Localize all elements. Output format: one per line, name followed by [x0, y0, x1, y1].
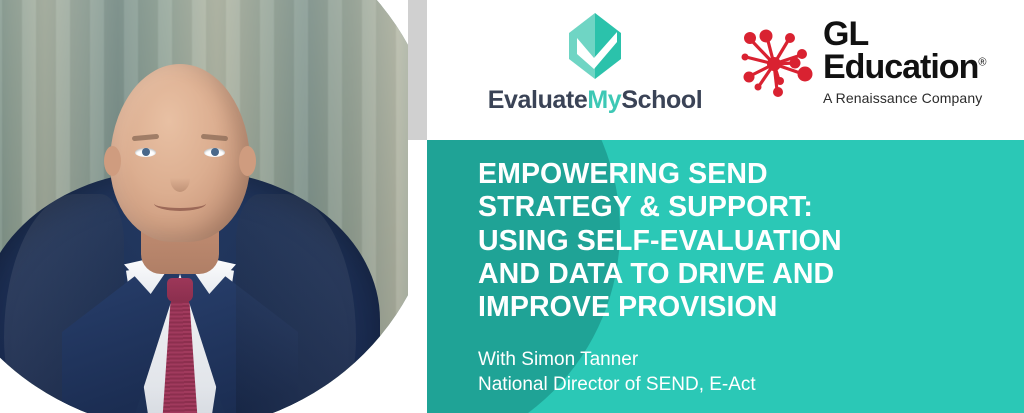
eyebrow-left [132, 134, 159, 141]
webinar-promo-banner: EvaluateMySchool [0, 0, 1024, 413]
eyebrow-right [201, 134, 228, 141]
presenter-name: With Simon Tanner [478, 349, 638, 370]
photo-circle-crop [0, 0, 408, 413]
headline-line-3: USING SELF-EVALUATION [478, 225, 842, 257]
gl-line-2: Education® [823, 51, 986, 84]
gl-education-starburst-icon [737, 24, 813, 104]
gl-line-1: GL [823, 18, 986, 51]
mouth [154, 196, 206, 211]
registered-trademark-icon: ® [978, 57, 986, 69]
gl-line-2-text: Education [823, 48, 978, 86]
wordmark-school: School [621, 86, 702, 114]
evaluatemyschool-diamond-check-icon [565, 10, 625, 82]
headline-line-4: AND DATA TO DRIVE AND [478, 258, 834, 290]
grey-divider-strip [408, 0, 427, 140]
logo-header: EvaluateMySchool [427, 0, 1024, 140]
wordmark-my: My [587, 86, 621, 114]
headline-line-1: EMPOWERING SEND [478, 158, 768, 190]
presenter-credit: With Simon Tanner National Director of S… [478, 347, 998, 398]
speaker-photo [0, 0, 408, 413]
headline-line-5: IMPROVE PROVISION [478, 291, 777, 323]
headline-line-2: STRATEGY & SUPPORT: [478, 191, 813, 223]
banner-content: EMPOWERING SEND STRATEGY & SUPPORT: USIN… [478, 158, 998, 398]
presenter-role: National Director of SEND, E-Act [478, 374, 756, 395]
eye-left [135, 148, 156, 157]
evaluatemyschool-wordmark: EvaluateMySchool [485, 88, 705, 113]
page-title: EMPOWERING SEND STRATEGY & SUPPORT: USIN… [478, 158, 998, 325]
ear-right [239, 146, 256, 176]
gl-tagline: A Renaissance Company [823, 90, 986, 106]
gl-education-logo[interactable]: GL Education® A Renaissance Company [737, 18, 1007, 106]
nose [170, 164, 190, 192]
eye-right [204, 148, 225, 157]
gl-education-text: GL Education® A Renaissance Company [823, 18, 986, 106]
speaker-tie-knot [167, 278, 193, 302]
ear-left [104, 146, 121, 176]
evaluatemyschool-logo[interactable]: EvaluateMySchool [485, 10, 705, 113]
wordmark-evaluate: Evaluate [488, 86, 588, 114]
